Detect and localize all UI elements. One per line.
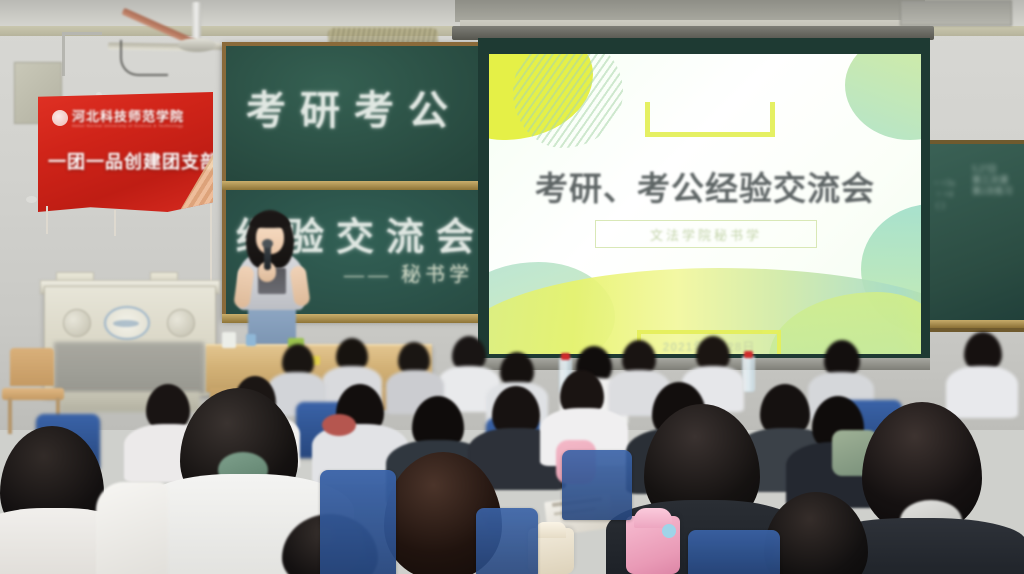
- hair-scrunchie: [322, 414, 356, 436]
- slide-title: 考研、考公经验交流会: [489, 162, 921, 210]
- right-blackboard-scribble: ~ =3x ÷ +4 ( ): [934, 178, 955, 211]
- auditorium-chair-front: [562, 450, 632, 520]
- banner-school-name-en: Hebei Normal University of Science & Tec…: [72, 123, 183, 128]
- slide-blob-stripes: [513, 54, 623, 148]
- audience-body: [946, 366, 1018, 418]
- ceiling-strip: [455, 0, 925, 22]
- desk-cup: [222, 332, 236, 348]
- podium-dial[interactable]: [63, 309, 91, 337]
- right-blackboard-notes: 5.27日 第三次课 第2次练习: [972, 164, 1013, 197]
- wall-pipe-horizontal: [62, 32, 102, 35]
- school-logo-icon: [52, 110, 68, 126]
- slide-subtitle: 文法学院秘书学: [596, 225, 816, 244]
- red-banner: 河北科技师范学院 Hebei Normal University of Scie…: [38, 92, 213, 212]
- right-blackboard-ledge: [926, 320, 1024, 328]
- cream-thermos-lid: [536, 522, 566, 538]
- lecture-hall-photo: 考研考公 经验交流会 —— 秘书学 5.27日 第三次课 第2次练习 ~ =3x…: [0, 0, 1024, 574]
- auditorium-chair-front: [688, 530, 780, 574]
- slide-blob-mint: [845, 54, 921, 140]
- pink-thermos-button: [662, 524, 676, 538]
- blackboard-line-1: 考研考公: [246, 78, 462, 136]
- podium-screen-panel: [54, 342, 204, 394]
- desk-item-blue: [246, 334, 256, 346]
- microphone-head: [262, 239, 273, 248]
- auditorium-chair-front: [476, 508, 538, 574]
- banner-string: [210, 204, 212, 284]
- ceiling-fan-hub: [178, 38, 216, 52]
- blackboard-line-3: —— 秘书学: [344, 258, 473, 287]
- wall-pipe: [62, 32, 65, 76]
- wooden-chair-back: [10, 348, 54, 386]
- banner-string: [46, 206, 48, 234]
- slide-bracket-decoration: [645, 102, 775, 137]
- audience-shoulder: [96, 482, 168, 574]
- blackboard-ledge: [222, 181, 490, 190]
- podium-dial[interactable]: [167, 309, 195, 337]
- wall-mark: [26, 196, 37, 203]
- podium-emblem-icon: [104, 306, 150, 340]
- banner-slogan: 一团一品创建团支部: [48, 148, 206, 174]
- banner-string: [114, 210, 116, 236]
- ceiling-fan-rod: [192, 2, 201, 42]
- auditorium-chair-front: [320, 470, 396, 574]
- slide-subtitle-frame: 文法学院秘书学: [595, 220, 817, 248]
- ceiling-wire: [120, 40, 168, 76]
- projector-screen: 考研、考公经验交流会 文法学院秘书学 2021年5月28日: [489, 54, 921, 354]
- wooden-chair-leg: [8, 398, 12, 434]
- ceiling-vent: [900, 0, 1012, 26]
